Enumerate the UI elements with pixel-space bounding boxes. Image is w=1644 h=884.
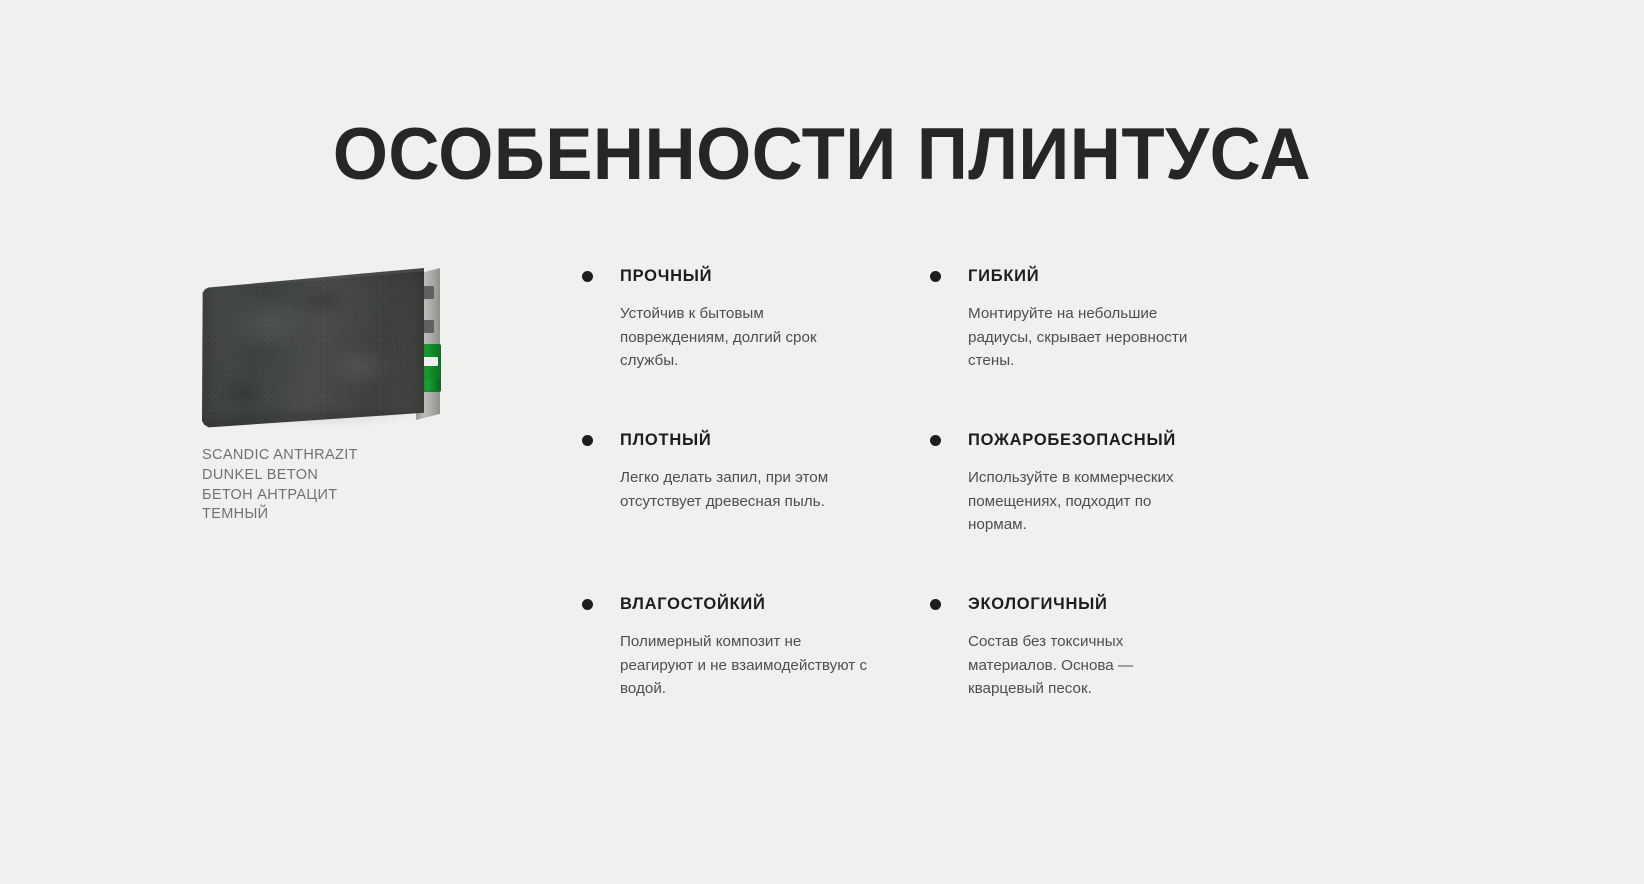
bullet-icon xyxy=(930,435,941,446)
bullet-icon xyxy=(930,599,941,610)
feature-item-eco-friendly: ЭКОЛОГИЧНЫЙ Состав без токсичных материа… xyxy=(930,594,1278,758)
feature-title: ЭКОЛОГИЧНЫЙ xyxy=(968,594,1108,614)
feature-heading: ПЛОТНЫЙ xyxy=(582,430,930,450)
feature-title: ПЛОТНЫЙ xyxy=(620,430,712,450)
board-front-face xyxy=(202,268,424,428)
features-row-3: ВЛАГОСТОЙКИЙ Полимерный композит не реаг… xyxy=(582,594,1282,758)
feature-title: ПОЖАРОБЕЗОПАСНЫЙ xyxy=(968,430,1176,450)
page-title: ОСОБЕННОСТИ ПЛИНТУСА xyxy=(25,118,1620,191)
bullet-icon xyxy=(582,435,593,446)
caption-line-3: БЕТОН АНТРАЦИТ xyxy=(202,486,502,506)
feature-item-fireproof: ПОЖАРОБЕЗОПАСНЫЙ Используйте в коммерчес… xyxy=(930,430,1278,594)
features-row-2: ПЛОТНЫЙ Легко делать запил, при этом отс… xyxy=(582,430,1282,594)
feature-heading: ПОЖАРОБЕЗОПАСНЫЙ xyxy=(930,430,1278,450)
feature-heading: ПРОЧНЫЙ xyxy=(582,266,930,286)
feature-title: ПРОЧНЫЙ xyxy=(620,266,712,286)
skirting-board-image xyxy=(202,268,450,428)
board-illustration xyxy=(202,268,450,428)
feature-item-moisture-resistant: ВЛАГОСТОЙКИЙ Полимерный композит не реаг… xyxy=(582,594,930,758)
feature-item-durable: ПРОЧНЫЙ Устойчив к бытовым повреждениям,… xyxy=(582,266,930,430)
caption-line-2: DUNKEL BETON xyxy=(202,466,502,486)
bullet-icon xyxy=(582,599,593,610)
bullet-icon xyxy=(582,271,593,282)
feature-title: ГИБКИЙ xyxy=(968,266,1039,286)
bullet-icon xyxy=(930,271,941,282)
features-row-1: ПРОЧНЫЙ Устойчив к бытовым повреждениям,… xyxy=(582,266,1282,430)
feature-title: ВЛАГОСТОЙКИЙ xyxy=(620,594,766,614)
feature-heading: ЭКОЛОГИЧНЫЙ xyxy=(930,594,1278,614)
product-image-block xyxy=(202,268,502,428)
feature-description: Устойчив к бытовым повреждениям, долгий … xyxy=(620,302,870,373)
feature-heading: ВЛАГОСТОЙКИЙ xyxy=(582,594,930,614)
caption-line-1: SCANDIC ANTHRAZIT xyxy=(202,446,502,466)
feature-item-dense: ПЛОТНЫЙ Легко делать запил, при этом отс… xyxy=(582,430,930,594)
feature-description: Состав без токсичных материалов. Основа … xyxy=(968,630,1210,701)
caption-line-4: ТЕМНЫЙ xyxy=(202,505,502,525)
feature-item-flexible: ГИБКИЙ Монтируйте на небольшие радиусы, … xyxy=(930,266,1278,430)
feature-description: Монтируйте на небольшие радиусы, скрывае… xyxy=(968,302,1210,373)
product-features-page: ОСОБЕННОСТИ ПЛИНТУСА SCANDIC ANTHRAZIT D… xyxy=(0,0,1644,884)
features-grid: ПРОЧНЫЙ Устойчив к бытовым повреждениям,… xyxy=(582,266,1282,758)
feature-heading: ГИБКИЙ xyxy=(930,266,1278,286)
feature-description: Легко делать запил, при этом отсутствует… xyxy=(620,466,870,513)
feature-description: Используйте в коммерческих помещениях, п… xyxy=(968,466,1210,537)
feature-description: Полимерный композит не реагируют и не вз… xyxy=(620,630,870,701)
product-caption: SCANDIC ANTHRAZIT DUNKEL BETON БЕТОН АНТ… xyxy=(202,446,502,525)
